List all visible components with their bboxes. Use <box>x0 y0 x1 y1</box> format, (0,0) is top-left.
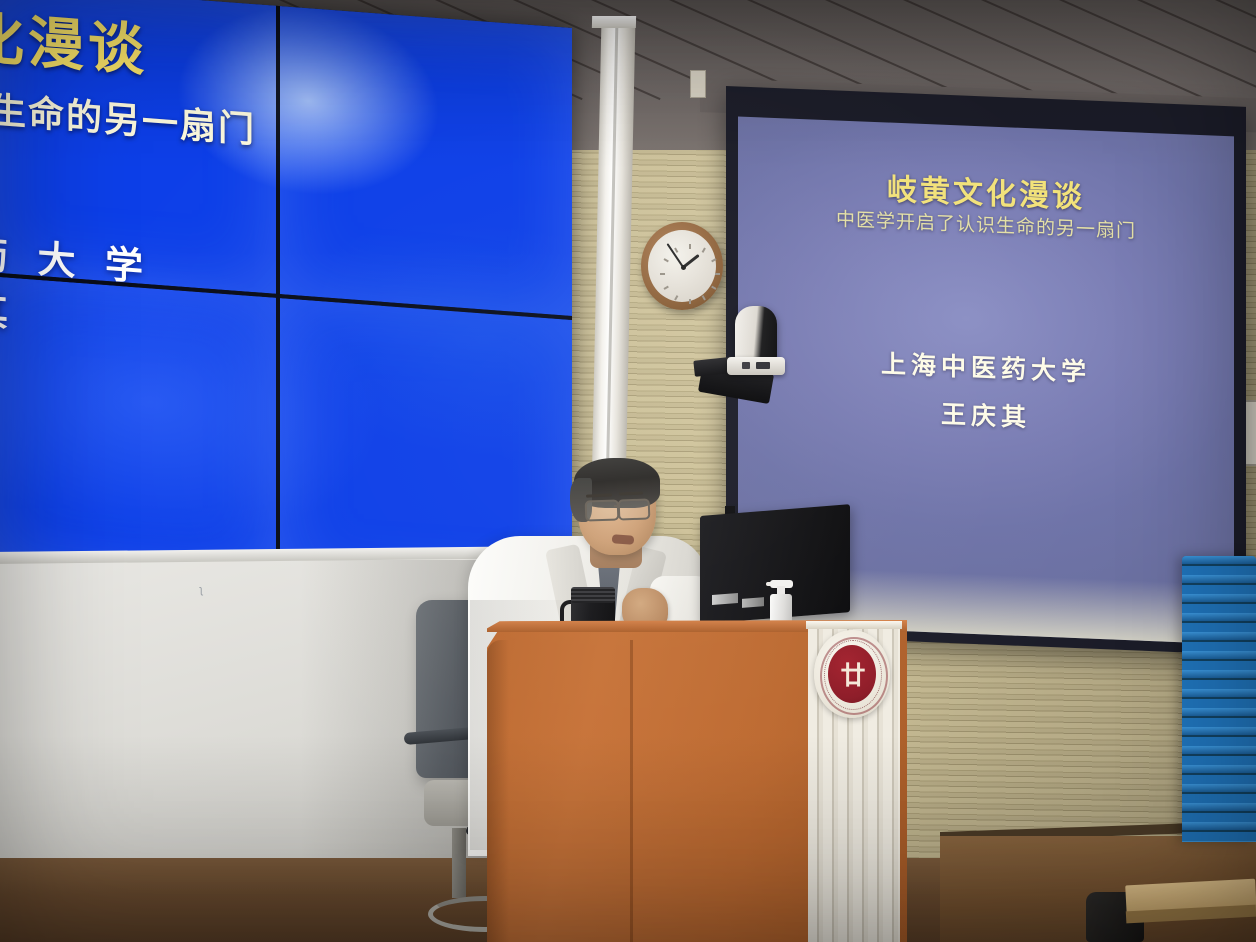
podium-trim-cap <box>806 621 902 629</box>
thermos-lid <box>571 587 615 603</box>
ceiling-grid-line <box>1129 0 1256 100</box>
stacked-chair-row <box>1182 803 1256 813</box>
clock-tick <box>689 244 691 249</box>
clock-tick <box>660 273 665 275</box>
wall-plate <box>690 70 706 98</box>
stacked-blue-chairs <box>1182 556 1256 842</box>
stacked-chair-row <box>1182 746 1256 756</box>
stacked-chair-row <box>1182 651 1256 661</box>
stacked-chair-row <box>1182 613 1256 623</box>
camera-indicator-icon <box>742 362 750 369</box>
clock-tick <box>664 286 669 290</box>
ceiling-grid-line <box>1051 0 1256 100</box>
eyeglasses-lens-left <box>585 499 620 521</box>
eyeglasses-lens-right <box>618 498 651 520</box>
clock-tick <box>702 295 706 300</box>
stacked-chair-row <box>1182 575 1256 585</box>
office-chair-post <box>452 828 466 898</box>
stacked-chair-row <box>1182 708 1256 718</box>
laptop-sticker <box>742 597 764 608</box>
ptz-camera <box>735 306 777 362</box>
clock-tick <box>689 299 691 304</box>
stacked-chair-row <box>1182 841 1256 842</box>
stacked-chair-row <box>1182 784 1256 794</box>
slide-presenter: 王庆其 <box>738 386 1234 442</box>
lecture-hall-scene: 化漫谈 生命的另一扇门 药 大 学 其 岐黄文化漫谈 中医学开启了认识生命的另一… <box>0 0 1256 942</box>
whiteboard-mark: ʅ <box>200 586 208 595</box>
led-presenter: 其 <box>0 279 18 338</box>
stacked-chair-row <box>1182 727 1256 737</box>
stacked-chair-row <box>1182 822 1256 832</box>
emblem-glyph: 廿 <box>828 645 876 703</box>
slide-organization: 上海中医药大学 <box>738 338 1234 394</box>
clock-tick <box>711 286 716 290</box>
clock-tick <box>715 273 720 275</box>
clock-tick <box>702 248 706 253</box>
led-video-wall: 化漫谈 生命的另一扇门 药 大 学 其 <box>0 0 572 608</box>
wall-clock <box>641 222 723 310</box>
clock-center-pin <box>681 265 686 270</box>
camera-label-strip <box>756 362 770 369</box>
stacked-chair-row <box>1182 594 1256 604</box>
stacked-chair-row <box>1182 556 1256 566</box>
clock-tick <box>664 258 669 262</box>
eyeglasses-bridge <box>614 505 620 507</box>
presenter-mouth <box>612 534 635 545</box>
podium-seam <box>630 640 633 942</box>
clock-tick <box>711 258 716 262</box>
university-emblem: 廿 <box>814 630 890 718</box>
clock-tick <box>674 295 678 300</box>
stacked-chair-row <box>1182 765 1256 775</box>
column-cap <box>592 16 636 28</box>
stacked-chair-row <box>1182 670 1256 680</box>
stacked-chair-row <box>1182 632 1256 642</box>
laptop-sticker <box>712 593 738 605</box>
podium-left-edge <box>487 640 509 942</box>
stacked-chair-row <box>1182 689 1256 699</box>
led-panel <box>0 276 276 586</box>
